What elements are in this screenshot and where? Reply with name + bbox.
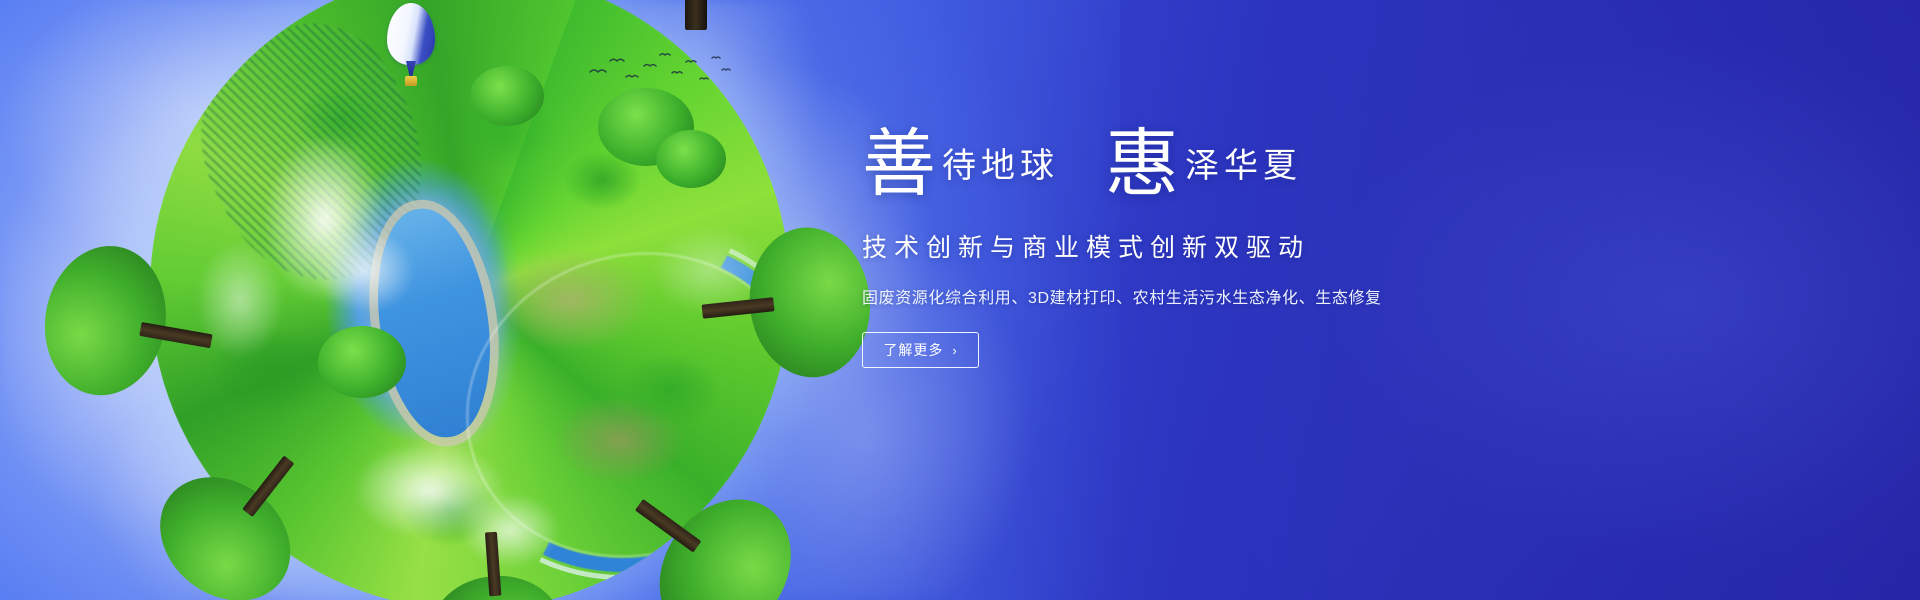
- chevron-right-icon: ›: [952, 344, 957, 357]
- tree-icon: [33, 236, 226, 413]
- learn-more-button[interactable]: 了解更多 ›: [862, 332, 979, 368]
- headline-part2-primary: 惠: [1105, 124, 1179, 206]
- hot-air-balloon-icon: [387, 3, 435, 95]
- tree-crown: [33, 236, 177, 405]
- bush-icon: [318, 326, 406, 398]
- headline-part1-primary: 善: [862, 124, 936, 206]
- headline-part2-secondary: 泽华夏: [1185, 148, 1302, 185]
- headline-part1-secondary: 待地球: [942, 148, 1059, 185]
- page-title: 善待地球惠泽华夏: [862, 128, 1462, 202]
- banner-copy-block: 善待地球惠泽华夏 技术创新与商业模式创新双驱动 固废资源化综合利用、3D建材打印…: [862, 128, 1462, 368]
- learn-more-label: 了解更多: [883, 340, 943, 360]
- balloon-envelope: [387, 3, 435, 65]
- bush-icon: [656, 130, 726, 188]
- bush-icon: [470, 66, 544, 126]
- tree-trunk: [685, 0, 707, 30]
- banner-description: 固废资源化综合利用、3D建材打印、农村生活污水生态净化、生态修复: [862, 284, 1462, 308]
- banner-subtitle: 技术创新与商业模式创新双驱动: [862, 228, 1462, 264]
- hero-banner: 善待地球惠泽华夏 技术创新与商业模式创新双驱动 固废资源化综合利用、3D建材打印…: [0, 0, 1920, 600]
- flying-birds-icon: [586, 46, 736, 96]
- balloon-neck: [406, 61, 416, 77]
- tree-icon: [575, 0, 825, 20]
- tree-icon: [425, 526, 565, 600]
- balloon-basket: [405, 76, 417, 86]
- tree-icon: [693, 222, 878, 389]
